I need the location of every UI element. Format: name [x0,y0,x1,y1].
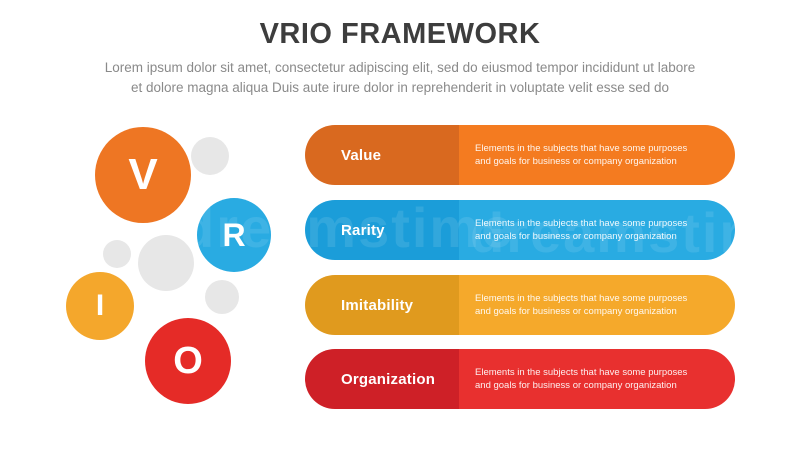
description-line-2: and goals for business or company organi… [475,305,687,318]
decorative-circle [191,137,229,175]
rarity-circle[interactable]: R [197,198,271,272]
vrio-circle-cluster: VRIO [0,0,300,450]
description-line-2: and goals for business or company organi… [475,155,687,168]
vrio-bar[interactable]: RarityElements in the subjects that have… [305,200,735,260]
description-line-1: Elements in the subjects that have some … [475,292,687,305]
vrio-bar-label: Value [305,125,459,185]
vrio-bar-label: Organization [305,349,459,409]
infographic-canvas: VRIO FRAMEWORK Lorem ipsum dolor sit ame… [0,0,800,450]
description-line-1: Elements in the subjects that have some … [475,366,687,379]
vrio-bar-description: Elements in the subjects that have some … [459,349,735,409]
vrio-bar-description: Elements in the subjects that have some … [459,125,735,185]
description-line-2: and goals for business or company organi… [475,230,687,243]
vrio-bar[interactable]: ValueElements in the subjects that have … [305,125,735,185]
vrio-bar-description: Elements in the subjects that have some … [459,275,735,335]
decorative-circle [205,280,239,314]
description-line-1: Elements in the subjects that have some … [475,142,687,155]
vrio-bar-label: Imitability [305,275,459,335]
decorative-circle [103,240,131,268]
imitability-circle[interactable]: I [66,272,134,340]
vrio-bar[interactable]: OrganizationElements in the subjects tha… [305,349,735,409]
description-line-2: and goals for business or company organi… [475,379,687,392]
vrio-bar-label: Rarity [305,200,459,260]
organization-circle[interactable]: O [145,318,231,404]
vrio-bar-description: Elements in the subjects that have some … [459,200,735,260]
vrio-bar[interactable]: ImitabilityElements in the subjects that… [305,275,735,335]
description-line-1: Elements in the subjects that have some … [475,217,687,230]
value-circle[interactable]: V [95,127,191,223]
decorative-circle [138,235,194,291]
